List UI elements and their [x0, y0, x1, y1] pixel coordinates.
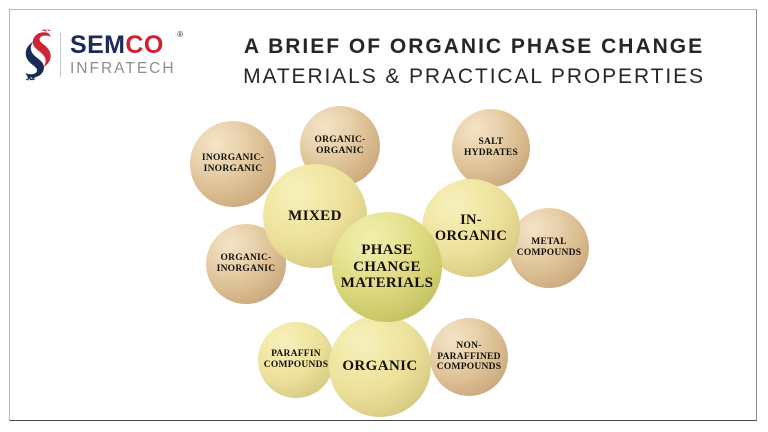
bubble-label: PHASE CHANGE MATERIALS: [341, 242, 433, 292]
bubble-metal-compounds[interactable]: METAL COMPOUNDS: [509, 208, 589, 288]
bubble-label: ORGANIC: [342, 358, 417, 375]
bubble-salt-hydrates[interactable]: SALT HYDRATES: [452, 109, 530, 187]
bubble-non-paraffined-compounds[interactable]: NON- PARAFFINED COMPOUNDS: [430, 318, 508, 396]
bubble-label: MIXED: [288, 208, 342, 225]
bubble-label: NON- PARAFFINED COMPOUNDS: [437, 341, 502, 373]
bubble-paraffin-compounds[interactable]: PARAFFIN COMPOUNDS: [258, 322, 334, 398]
phase-change-materials-bubble-diagram: INORGANIC- INORGANIC ORGANIC- ORGANIC OR…: [0, 0, 768, 432]
bubble-inorganic-inorganic[interactable]: INORGANIC- INORGANIC: [190, 121, 276, 207]
bubble-organic[interactable]: ORGANIC: [329, 315, 431, 417]
slide-canvas: SEMCO® INFRATECH A BRIEF OF ORGANIC PHAS…: [0, 0, 768, 432]
bubble-label: IN- ORGANIC: [435, 212, 507, 244]
bubble-label: ORGANIC- ORGANIC: [314, 135, 365, 156]
bubble-phase-change-materials[interactable]: PHASE CHANGE MATERIALS: [332, 212, 442, 322]
bubble-label: SALT HYDRATES: [464, 137, 518, 158]
bubble-label: PARAFFIN COMPOUNDS: [264, 349, 329, 370]
bubble-label: METAL COMPOUNDS: [517, 237, 582, 258]
bubble-label: INORGANIC- INORGANIC: [202, 153, 264, 174]
bubble-label: ORGANIC- INORGANIC: [217, 253, 276, 274]
